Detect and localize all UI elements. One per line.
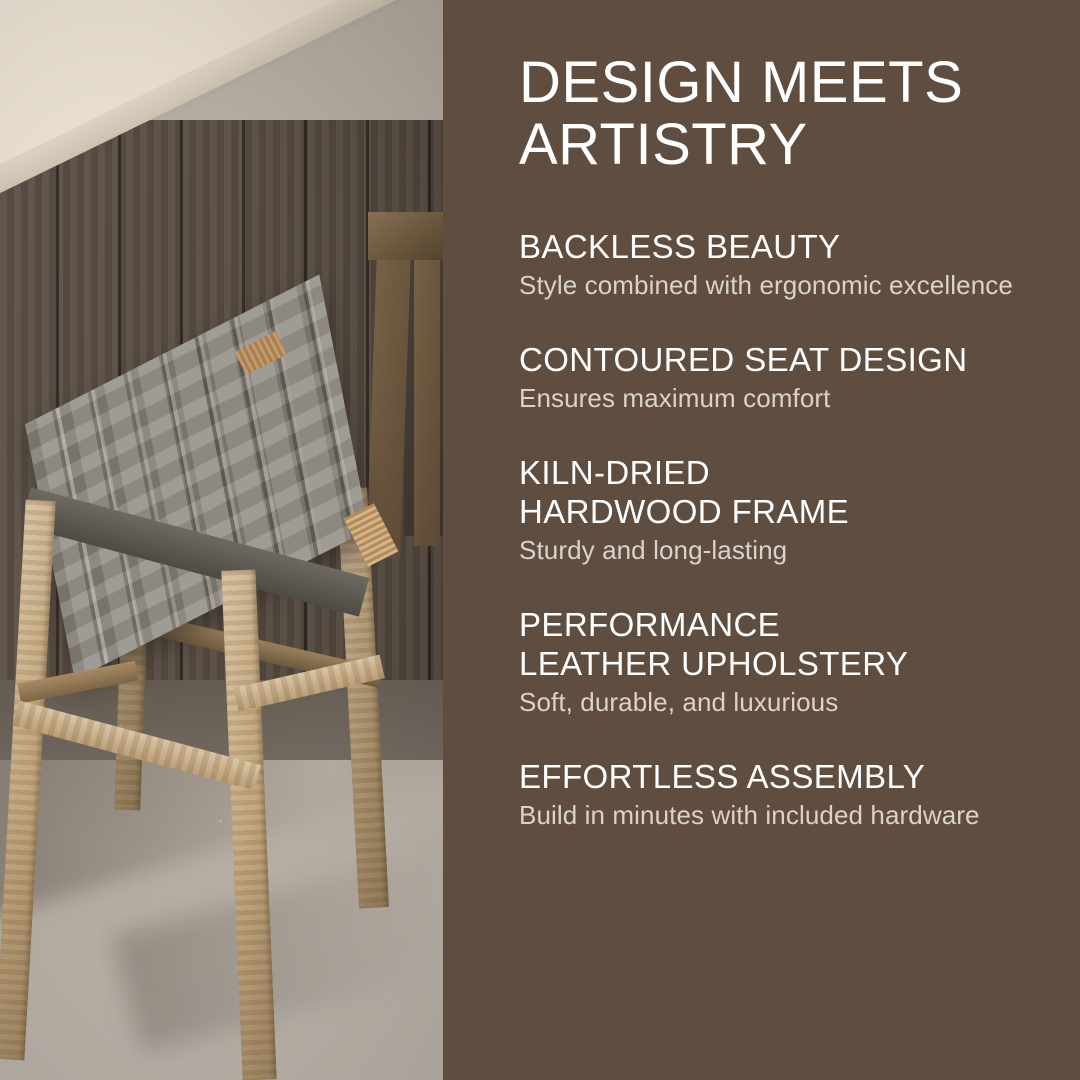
feature-copy-panel: DESIGN MEETS ARTISTRY BACKLESS BEAUTY St…	[443, 0, 1080, 1080]
photo-vignette	[0, 0, 443, 1080]
feature-description: Sturdy and long-lasting	[519, 535, 1040, 566]
feature-title: EFFORTLESS ASSEMBLY	[519, 758, 1040, 797]
feature-description: Style combined with ergonomic excellence	[519, 270, 1040, 301]
feature-description: Soft, durable, and luxurious	[519, 687, 1040, 718]
product-feature-infographic: DESIGN MEETS ARTISTRY BACKLESS BEAUTY St…	[0, 0, 1080, 1080]
feature-title: PERFORMANCE LEATHER UPHOLSTERY	[519, 606, 1040, 684]
headline: DESIGN MEETS ARTISTRY	[519, 52, 1040, 176]
feature-item-effortless-assembly: EFFORTLESS ASSEMBLY Build in minutes wit…	[519, 758, 1040, 831]
feature-item-performance-leather-upholstery: PERFORMANCE LEATHER UPHOLSTERY Soft, dur…	[519, 606, 1040, 718]
feature-item-contoured-seat-design: CONTOURED SEAT DESIGN Ensures maximum co…	[519, 341, 1040, 414]
feature-title: KILN-DRIED HARDWOOD FRAME	[519, 454, 1040, 532]
feature-title: BACKLESS BEAUTY	[519, 228, 1040, 267]
product-photo	[0, 0, 443, 1080]
feature-title: CONTOURED SEAT DESIGN	[519, 341, 1040, 380]
feature-description: Build in minutes with included hardware	[519, 800, 1040, 831]
feature-item-backless-beauty: BACKLESS BEAUTY Style combined with ergo…	[519, 228, 1040, 301]
feature-description: Ensures maximum comfort	[519, 383, 1040, 414]
feature-item-kiln-dried-hardwood-frame: KILN-DRIED HARDWOOD FRAME Sturdy and lon…	[519, 454, 1040, 566]
feature-list: BACKLESS BEAUTY Style combined with ergo…	[519, 228, 1040, 832]
